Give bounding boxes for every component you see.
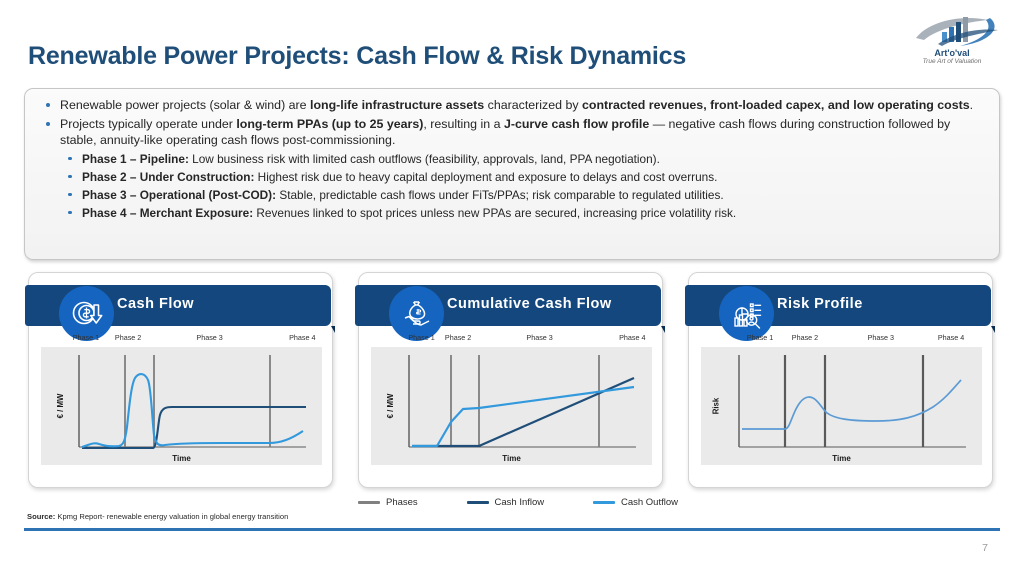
risk-phase-labels: Phase 1 Phase 2 Phase 3 Phase 4 (701, 333, 982, 346)
bullet-1-text-b: characterized by (484, 98, 582, 112)
legend-swatch-cash-inflow (467, 501, 489, 504)
cash-flow-plot: € / MW Time (41, 347, 322, 465)
phase-2-label: Phase 2 – Under Construction: (82, 170, 254, 184)
risk-y-label: Risk (712, 398, 721, 414)
panel-cash-flow-banner: Cash Flow (25, 285, 331, 326)
legend-item-phases: Phases (358, 497, 418, 508)
phase-1-text: Low business risk with limited cash outf… (189, 152, 660, 166)
chart-cumulative-cash-flow: Phase 1 Phase 2 Phase 3 Phase 4 € / MW T… (371, 333, 652, 479)
rp-phase-label-1: Phase 1 (747, 333, 773, 342)
legend-label-cash-outflow: Cash Outflow (621, 497, 678, 508)
risk-plot: Risk Time (701, 347, 982, 465)
phase-item-3: Phase 3 – Operational (Post-COD): Stable… (60, 187, 985, 204)
phase-2-text: Highest risk due to heavy capital deploy… (254, 170, 717, 184)
cumulative-x-label: Time (371, 454, 652, 463)
source-note: Source: Kpmg Report- renewable energy va… (27, 512, 288, 521)
phase-3-label: Phase 3 – Operational (Post-COD): (82, 188, 276, 202)
panel-risk-profile: Risk Profile Phase 1 Phase 2 Phase 3 Pha… (688, 272, 993, 488)
cash-flow-y-label: € / MW (56, 394, 65, 419)
bullet-1-text-c: . (970, 98, 973, 112)
panel-cumulative-cash-flow: Cumulative Cash Flow Phase 1 Phase 2 Pha… (358, 272, 663, 488)
footer-divider (24, 528, 1000, 531)
bullet-1-text-a: Renewable power projects (solar & wind) … (60, 98, 310, 112)
legend-item-cash-inflow: Cash Inflow (467, 497, 545, 508)
cf-phase-label-3: Phase 3 (196, 333, 222, 342)
source-label: Source: (27, 512, 55, 521)
legend-swatch-phases (358, 501, 380, 504)
phase-list: Phase 1 – Pipeline: Low business risk wi… (60, 151, 985, 222)
cumulative-y-label: € / MW (386, 394, 395, 419)
bullet-2-bold-b: J-curve cash flow profile (504, 117, 649, 131)
cc-phase-label-4: Phase 4 (619, 333, 645, 342)
phase-4-text: Revenues linked to spot prices unless ne… (253, 206, 736, 220)
phase-3-text: Stable, predictable cash flows under FiT… (276, 188, 724, 202)
legend-label-phases: Phases (386, 497, 418, 508)
phase-1-label: Phase 1 – Pipeline: (82, 152, 189, 166)
panel-cumulative-banner: Cumulative Cash Flow (355, 285, 661, 326)
bullet-1-bold-b: contracted revenues, front-loaded capex,… (582, 98, 970, 112)
page-number: 7 (982, 542, 988, 554)
legend-label-cash-inflow: Cash Inflow (495, 497, 545, 508)
bullet-item-2: Projects typically operate under long-te… (39, 116, 985, 222)
panel-cash-flow: Cash Flow Phase 1 Phase 2 Phase 3 Phase … (28, 272, 333, 488)
cumulative-phase-labels: Phase 1 Phase 2 Phase 3 Phase 4 (371, 333, 652, 346)
cf-phase-label-1: Phase 1 (73, 333, 99, 342)
bullet-1-bold-a: long-life infrastructure assets (310, 98, 484, 112)
panel-cash-flow-title: Cash Flow (117, 296, 194, 312)
chart-risk-profile: Phase 1 Phase 2 Phase 3 Phase 4 Risk Tim… (701, 333, 982, 479)
legend-item-cash-outflow: Cash Outflow (593, 497, 678, 508)
phase-item-1: Phase 1 – Pipeline: Low business risk wi… (60, 151, 985, 168)
chart-legend: Phases Cash Inflow Cash Outflow (358, 497, 678, 508)
phase-4-label: Phase 4 – Merchant Exposure: (82, 206, 253, 220)
phase-item-4: Phase 4 – Merchant Exposure: Revenues li… (60, 205, 985, 222)
key-points-box: Renewable power projects (solar & wind) … (24, 88, 1000, 260)
cf-phase-label-2: Phase 2 (115, 333, 141, 342)
page-title: Renewable Power Projects: Cash Flow & Ri… (28, 42, 686, 71)
panel-cumulative-title: Cumulative Cash Flow (447, 296, 612, 312)
brand-logo: Art'o'val True Art of Valuation (898, 8, 1006, 70)
cash-flow-x-label: Time (41, 454, 322, 463)
source-text: Kpmg Report- renewable energy valuation … (55, 512, 288, 521)
bar-chart-swoosh-logo-icon (898, 8, 1006, 50)
panel-risk-title: Risk Profile (777, 296, 863, 312)
bullet-item-1: Renewable power projects (solar & wind) … (39, 97, 985, 114)
risk-x-label: Time (701, 454, 982, 463)
cumulative-plot: € / MW Time (371, 347, 652, 465)
logo-tagline: True Art of Valuation (898, 58, 1006, 66)
rp-phase-label-3: Phase 3 (868, 333, 894, 342)
cc-phase-label-3: Phase 3 (526, 333, 552, 342)
rp-phase-label-4: Phase 4 (938, 333, 964, 342)
phase-item-2: Phase 2 – Under Construction: Highest ri… (60, 169, 985, 186)
bullet-2-text-b: , resulting in a (423, 117, 504, 131)
panel-risk-banner: Risk Profile (685, 285, 991, 326)
rp-phase-label-2: Phase 2 (792, 333, 818, 342)
cc-phase-label-2: Phase 2 (445, 333, 471, 342)
legend-swatch-cash-outflow (593, 501, 615, 504)
chart-cash-flow: Phase 1 Phase 2 Phase 3 Phase 4 € / MW T… (41, 333, 322, 479)
cc-phase-label-1: Phase 1 (408, 333, 434, 342)
bullet-2-bold-a: long-term PPAs (up to 25 years) (236, 117, 423, 131)
bullet-2-text-a: Projects typically operate under (60, 117, 236, 131)
cash-flow-phase-labels: Phase 1 Phase 2 Phase 3 Phase 4 (41, 333, 322, 346)
cf-phase-label-4: Phase 4 (289, 333, 315, 342)
